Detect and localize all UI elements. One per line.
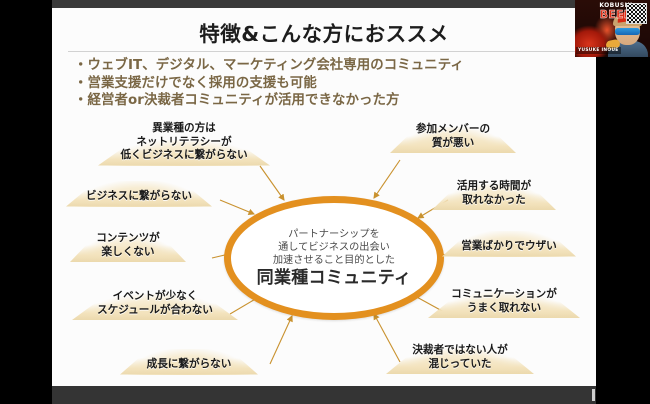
- center-headline: 同業種コミュニティ: [257, 268, 412, 289]
- shared-slide: 特徴&こんな方におススメ ・ウェブIT、デジタル、マーケティング会社専用のコミュ…: [52, 8, 596, 386]
- sunglasses-icon: [615, 28, 640, 35]
- label-boring-content: コンテンツが 楽しくない: [70, 232, 186, 259]
- center-line: 通してビジネスの出会い: [278, 241, 390, 254]
- top-chrome-bar: [52, 0, 596, 8]
- bullet-item: ・経営者or決裁者コミュニティが活用できなかった方: [74, 92, 594, 110]
- label-line: ビジネスに繋がらない: [66, 190, 212, 204]
- label-line: 決裁者ではない人が: [386, 344, 534, 358]
- bottom-chrome-bar: [52, 386, 596, 404]
- qr-code-icon: [626, 3, 647, 24]
- label-line: 成長に繋がらない: [120, 358, 258, 372]
- webcam-overlay[interactable]: KOBUSHI BEER YUSUKE INOUE: [575, 0, 650, 57]
- label-line: 楽しくない: [70, 246, 186, 260]
- label-line: 低くビジネスに繋がらない: [98, 149, 270, 163]
- label-line: ネットリテラシーが: [98, 136, 270, 150]
- label-no-time: 活用する時間が 取れなかった: [432, 180, 556, 207]
- bullet-item: ・ウェブIT、デジタル、マーケティング会社専用のコミュニティ: [74, 57, 594, 75]
- meeting-screen: 特徴&こんな方におススメ ・ウェブIT、デジタル、マーケティング会社専用のコミュ…: [0, 0, 650, 404]
- label-line: 参加メンバーの: [390, 123, 516, 137]
- title-divider: [68, 51, 580, 52]
- presenter-name-tag: YUSUKE INOUE: [576, 47, 621, 54]
- label-bad-communication: コミュニケーションが うまく取れない: [428, 288, 580, 315]
- label-line: 活用する時間が: [432, 180, 556, 194]
- label-too-salesy: 営業ばかりでウザい: [442, 240, 576, 254]
- label-non-decision-makers: 決裁者ではない人が 混じっていた: [386, 344, 534, 371]
- label-line: うまく取れない: [428, 302, 580, 316]
- label-line: コミュニケーションが: [428, 288, 580, 302]
- label-member-quality: 参加メンバーの 質が悪い: [390, 123, 516, 150]
- label-few-events: イベントが少なく スケジュールが合わない: [72, 290, 238, 317]
- label-line: コンテンツが: [70, 232, 186, 246]
- label-line: 混じっていた: [386, 358, 534, 372]
- page-title: 特徴&こんな方におススメ: [52, 17, 596, 47]
- pain-points-diagram: パートナーシップを 通してビジネスの出会い 加速させること目的とした 同業種コミ…: [52, 118, 596, 386]
- center-line: パートナーシップを: [288, 228, 379, 241]
- label-no-growth: 成長に繋がらない: [120, 358, 258, 372]
- bullet-list: ・ウェブIT、デジタル、マーケティング会社専用のコミュニティ ・営業支援だけでな…: [74, 57, 594, 110]
- center-line: 加速させること目的とした: [273, 254, 395, 267]
- label-line: スケジュールが合わない: [72, 304, 238, 318]
- bullet-item: ・営業支援だけでなく採用の支援も可能: [74, 75, 594, 93]
- label-no-business: ビジネスに繋がらない: [66, 190, 212, 204]
- center-circle: パートナーシップを 通してビジネスの出会い 加速させること目的とした 同業種コミ…: [224, 196, 444, 320]
- label-line: 異業種の方は: [98, 122, 270, 136]
- label-line: 取れなかった: [432, 194, 556, 208]
- label-line: 質が悪い: [390, 137, 516, 151]
- label-line: 営業ばかりでウザい: [442, 240, 576, 254]
- scroll-indicator[interactable]: [592, 389, 595, 401]
- label-line: イベントが少なく: [72, 290, 238, 304]
- label-different-industry: 異業種の方は ネットリテラシーが 低くビジネスに繋がらない: [98, 122, 270, 163]
